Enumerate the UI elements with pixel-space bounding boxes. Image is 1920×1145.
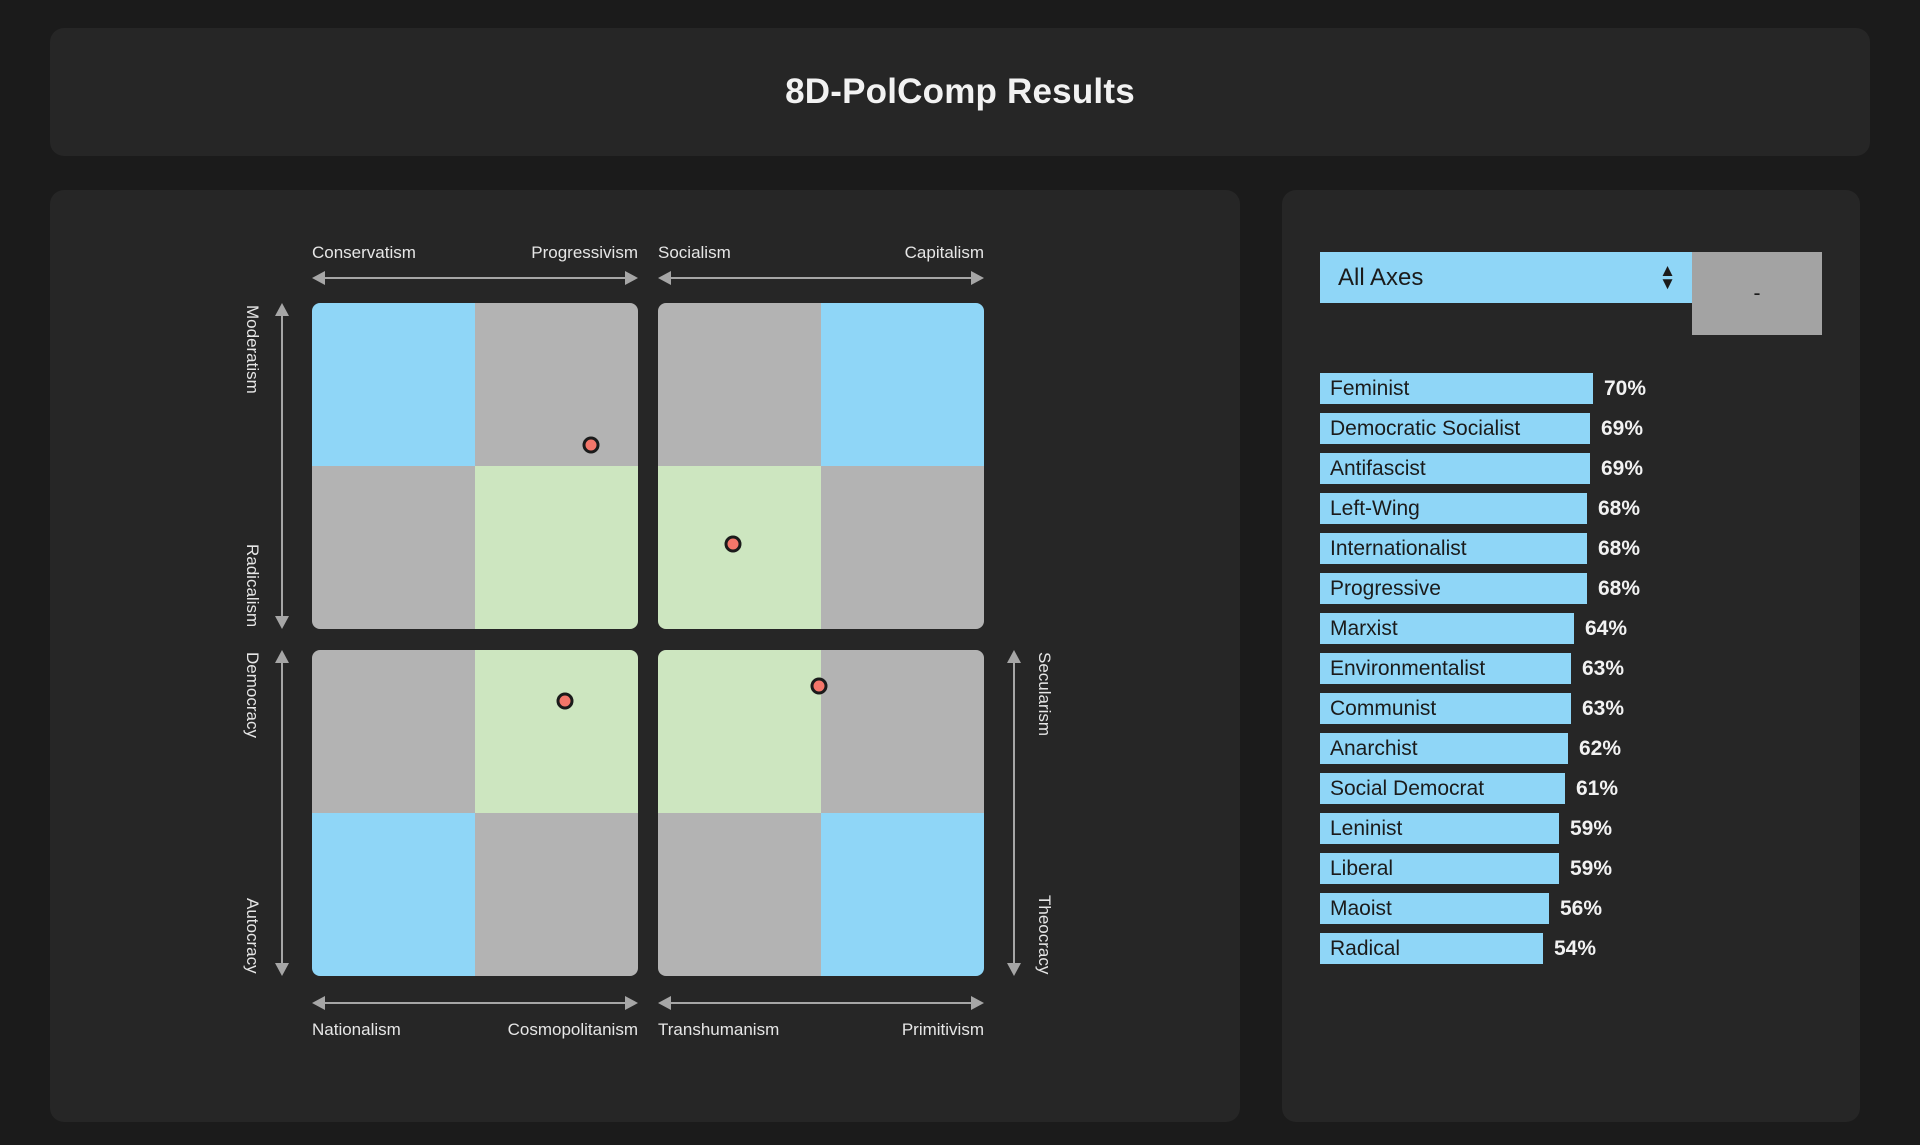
chart-bottom-right: TranshumanismPrimitivismSecularismTheocr… [658, 650, 984, 976]
result-row[interactable]: Left-Wing68% [1320, 493, 1822, 524]
chart-top-left-plot-area[interactable] [312, 303, 638, 629]
result-percent: 70% [1604, 377, 1646, 401]
result-label: Internationalist [1330, 537, 1467, 561]
result-bar: Social Democrat [1320, 773, 1565, 804]
header-card: 8D-PolComp Results [50, 28, 1870, 156]
result-bar: Progressive [1320, 573, 1587, 604]
chevron-up-down-icon: ▲▼ [1659, 265, 1676, 291]
result-percent: 59% [1570, 857, 1612, 881]
result-row[interactable]: Radical54% [1320, 933, 1822, 964]
chart-bottom-left: NationalismCosmopolitanismDemocracyAutoc… [312, 650, 638, 976]
result-row[interactable]: Democratic Socialist69% [1320, 413, 1822, 444]
chart-top-left-y-bottom-label: Radicalism [242, 544, 262, 627]
result-row[interactable]: Anarchist62% [1320, 733, 1822, 764]
result-label: Communist [1330, 697, 1436, 721]
result-label: Anarchist [1330, 737, 1418, 761]
chart-top-left-data-point [582, 436, 599, 453]
chart-top-right-quadrant-1 [658, 303, 821, 466]
result-label: Liberal [1330, 857, 1393, 881]
result-label: Left-Wing [1330, 497, 1420, 521]
chart-top-right-quadrant-2 [821, 303, 984, 466]
result-label: Democratic Socialist [1330, 417, 1520, 441]
result-row[interactable]: Social Democrat61% [1320, 773, 1822, 804]
chart-top-right-quadrant-4 [821, 466, 984, 629]
result-percent: 59% [1570, 817, 1612, 841]
result-label: Leninist [1330, 817, 1402, 841]
result-percent: 68% [1598, 537, 1640, 561]
axis-select[interactable]: All Axes ▲▼ [1320, 252, 1692, 303]
results-panel: All Axes ▲▼ - Feminist70%Democratic Soci… [1282, 190, 1860, 1122]
chart-bottom-left-data-point [556, 692, 573, 709]
result-label: Progressive [1330, 577, 1441, 601]
main-content: ConservatismProgressivismModeratismRadic… [50, 190, 1870, 1122]
chart-bottom-right-y-right-top-label: Secularism [1034, 652, 1054, 736]
chart-top-right: SocialismCapitalism [658, 303, 984, 629]
chart-bottom-left-plot-area[interactable] [312, 650, 638, 976]
chart-top-left-x-labels-top: ConservatismProgressivism [312, 243, 638, 263]
result-percent: 63% [1582, 657, 1624, 681]
chart-bottom-left-quadrant-4 [475, 813, 638, 976]
chart-top-left-x-right-label: Progressivism [531, 243, 638, 263]
result-row[interactable]: Progressive68% [1320, 573, 1822, 604]
result-row[interactable]: Internationalist68% [1320, 533, 1822, 564]
chart-bottom-right-quadrant-4 [821, 813, 984, 976]
chart-bottom-right-plot-area[interactable] [658, 650, 984, 976]
result-percent: 63% [1582, 697, 1624, 721]
chart-top-right-plot-area[interactable] [658, 303, 984, 629]
result-row[interactable]: Communist63% [1320, 693, 1822, 724]
result-bar: Leninist [1320, 813, 1559, 844]
result-row[interactable]: Marxist64% [1320, 613, 1822, 644]
chart-top-right-data-point [724, 536, 741, 553]
result-label: Social Democrat [1330, 777, 1484, 801]
chart-bottom-right-x-labels-bottom: TranshumanismPrimitivism [658, 1020, 984, 1040]
result-percent: 68% [1598, 497, 1640, 521]
results-list: Feminist70%Democratic Socialist69%Antifa… [1320, 373, 1822, 964]
page-title: 8D-PolComp Results [785, 72, 1135, 112]
chart-top-left-y-axis-arrow-left [274, 303, 290, 629]
result-bar: Left-Wing [1320, 493, 1587, 524]
result-bar: Environmentalist [1320, 653, 1571, 684]
chart-bottom-right-quadrant-3 [658, 813, 821, 976]
result-row[interactable]: Feminist70% [1320, 373, 1822, 404]
result-percent: 56% [1560, 897, 1602, 921]
chart-bottom-left-quadrant-3 [312, 813, 475, 976]
result-bar: Marxist [1320, 613, 1574, 644]
result-label: Marxist [1330, 617, 1398, 641]
chart-top-left-y-top-label: Moderatism [242, 305, 262, 394]
compass-grid: ConservatismProgressivismModeratismRadic… [50, 190, 1240, 1122]
result-bar: Internationalist [1320, 533, 1587, 564]
chart-bottom-left-y-axis-arrow-left [274, 650, 290, 976]
chart-top-left-x-axis-arrow-top [312, 270, 638, 286]
chart-bottom-right-quadrant-2 [821, 650, 984, 813]
chart-bottom-left-y-top-label: Democracy [242, 652, 262, 738]
result-percent: 54% [1554, 937, 1596, 961]
result-row[interactable]: Environmentalist63% [1320, 653, 1822, 684]
chart-top-right-x-labels-top: SocialismCapitalism [658, 243, 984, 263]
chart-bottom-left-x-labels-bottom: NationalismCosmopolitanism [312, 1020, 638, 1040]
result-percent: 68% [1598, 577, 1640, 601]
chart-top-left: ConservatismProgressivismModeratismRadic… [312, 303, 638, 629]
chart-top-right-x-left-label: Socialism [658, 243, 731, 263]
chart-bottom-left-x-axis-arrow-bottom [312, 995, 638, 1011]
result-percent: 69% [1601, 457, 1643, 481]
result-row[interactable]: Maoist56% [1320, 893, 1822, 924]
result-bar: Liberal [1320, 853, 1559, 884]
chart-bottom-left-x-bottom-right-label: Cosmopolitanism [508, 1020, 638, 1040]
result-percent: 62% [1579, 737, 1621, 761]
result-bar: Communist [1320, 693, 1571, 724]
chart-bottom-right-x-bottom-right-label: Primitivism [902, 1020, 984, 1040]
chart-bottom-left-quadrant-2 [475, 650, 638, 813]
result-bar: Antifascist [1320, 453, 1590, 484]
axis-select-value: All Axes [1338, 264, 1423, 292]
chart-bottom-right-y-axis-arrow-right [1006, 650, 1022, 976]
chart-top-left-quadrant-2 [475, 303, 638, 466]
result-percent: 64% [1585, 617, 1627, 641]
result-label: Feminist [1330, 377, 1409, 401]
result-bar: Maoist [1320, 893, 1549, 924]
result-bar: Anarchist [1320, 733, 1568, 764]
chart-bottom-left-y-bottom-label: Autocracy [242, 898, 262, 974]
result-row[interactable]: Antifascist69% [1320, 453, 1822, 484]
axis-selector-row: All Axes ▲▼ - [1320, 252, 1822, 335]
chart-bottom-right-quadrant-1 [658, 650, 821, 813]
chart-bottom-left-x-bottom-left-label: Nationalism [312, 1020, 401, 1040]
compass-panel: ConservatismProgressivismModeratismRadic… [50, 190, 1240, 1122]
result-row[interactable]: Leninist59% [1320, 813, 1822, 844]
dash-button[interactable]: - [1692, 252, 1822, 335]
result-label: Antifascist [1330, 457, 1426, 481]
chart-top-left-quadrant-1 [312, 303, 475, 466]
chart-top-left-quadrant-4 [475, 466, 638, 629]
chart-top-right-x-axis-arrow-top [658, 270, 984, 286]
chart-top-right-x-right-label: Capitalism [905, 243, 984, 263]
result-percent: 61% [1576, 777, 1618, 801]
chart-bottom-right-data-point [811, 677, 828, 694]
result-bar: Radical [1320, 933, 1543, 964]
result-label: Maoist [1330, 897, 1392, 921]
chart-bottom-right-y-right-bottom-label: Theocracy [1034, 895, 1054, 974]
result-label: Environmentalist [1330, 657, 1485, 681]
result-percent: 69% [1601, 417, 1643, 441]
chart-top-left-quadrant-3 [312, 466, 475, 629]
chart-bottom-right-x-bottom-left-label: Transhumanism [658, 1020, 779, 1040]
result-bar: Democratic Socialist [1320, 413, 1590, 444]
result-label: Radical [1330, 937, 1400, 961]
chart-top-left-x-left-label: Conservatism [312, 243, 416, 263]
result-row[interactable]: Liberal59% [1320, 853, 1822, 884]
chart-bottom-right-x-axis-arrow-bottom [658, 995, 984, 1011]
chart-bottom-left-quadrant-1 [312, 650, 475, 813]
app-root: 8D-PolComp Results ConservatismProgressi… [0, 0, 1920, 1145]
result-bar: Feminist [1320, 373, 1593, 404]
